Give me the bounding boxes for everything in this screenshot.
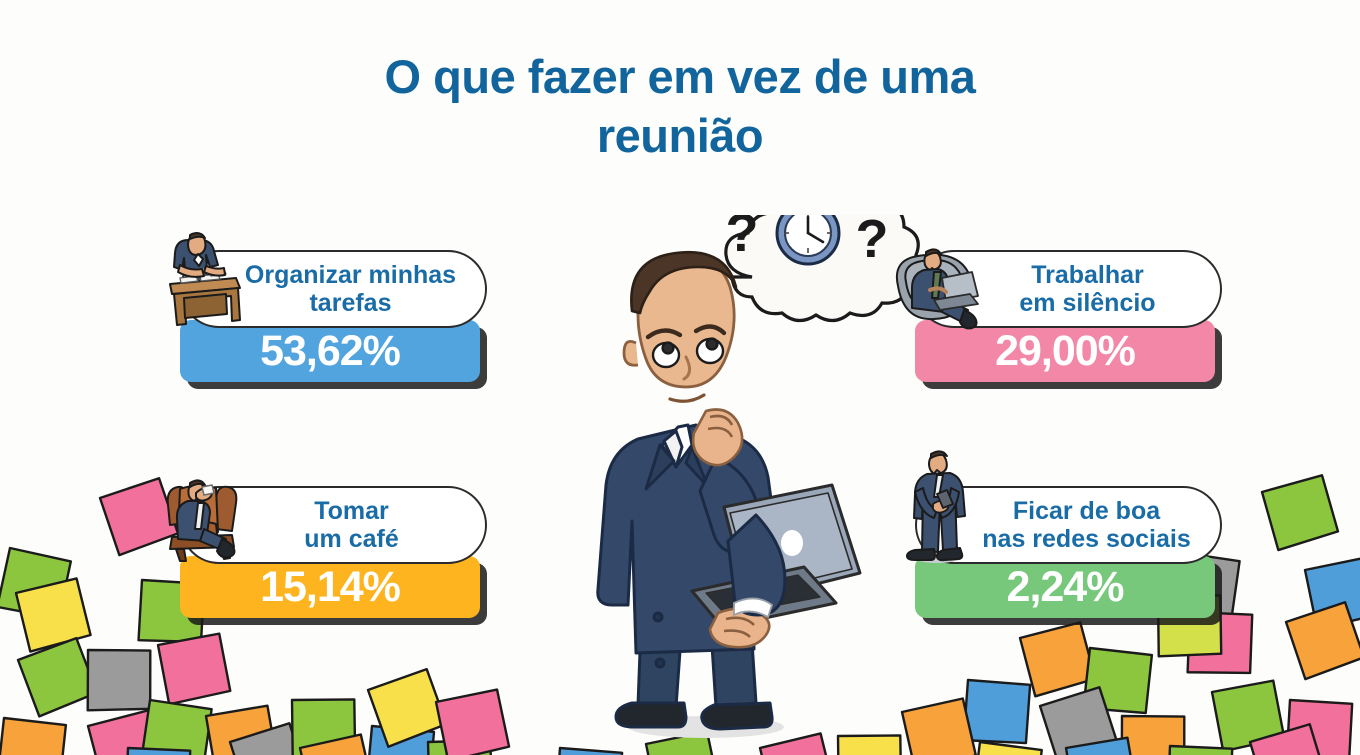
clock-icon bbox=[777, 215, 839, 264]
man-at-desk-with-papers-icon bbox=[158, 232, 248, 330]
page-title: O que fazer em vez de uma reunião bbox=[0, 48, 1360, 166]
man-standing-with-phone-icon bbox=[899, 444, 977, 569]
svg-text:?: ? bbox=[856, 215, 889, 269]
man-in-armchair-with-coffee-icon bbox=[158, 471, 250, 566]
infographic-canvas: O que fazer em vez de uma reunião ? ? bbox=[0, 0, 1360, 755]
man-in-beanbag-with-laptop-icon bbox=[890, 238, 990, 333]
svg-text:?: ? bbox=[726, 215, 759, 263]
thinking-businessman-with-laptop-icon: ? ? bbox=[520, 215, 920, 740]
